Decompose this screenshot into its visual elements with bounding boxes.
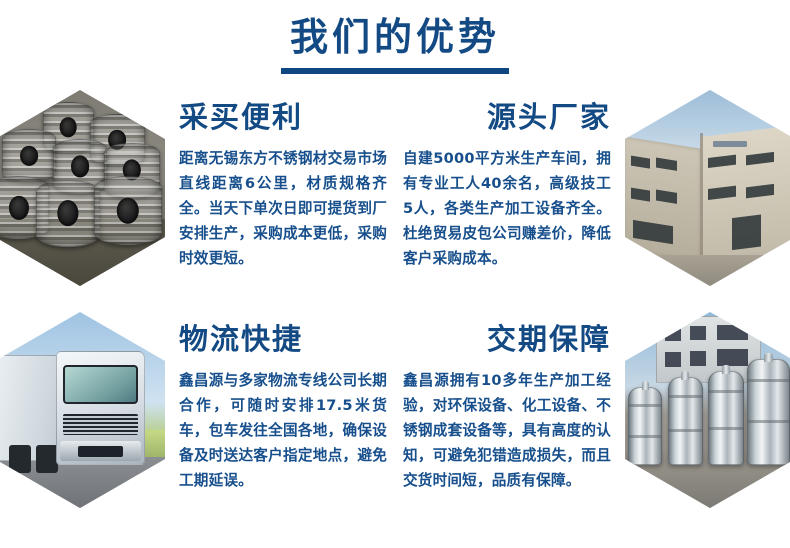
page-header: 我们的优势 [0,0,790,74]
advantage-body: 自建5000平方米生产车间，拥有专业工人40余名，高级技工5人，各类生产加工设备… [403,146,611,271]
advantage-heading: 交期保障 [403,322,611,356]
truck-grille [63,414,138,436]
advantage-text-procurement: 采买便利 距离无锡东方不锈钢材交易市场直线距离6公里，材质规格齐全。当天下单次日… [165,86,395,308]
factory-window [656,157,676,170]
advantages-row-2: 物流快捷 鑫昌源与多家物流专线公司长期合作，可随时安排17.5米货车，包车发往全… [0,308,790,518]
stainless-tank [628,387,662,465]
factory-window [631,187,650,201]
truck-windshield [63,365,138,404]
advantage-heading: 源头厂家 [403,100,611,134]
advantage-heading: 采买便利 [179,100,387,134]
advantage-text-delivery-guarantee: 交期保障 鑫昌源拥有10多年生产加工经验，对环保设备、化工设备、不锈钢成套设备等… [395,308,625,518]
building-window [717,325,748,341]
advantage-card-procurement: 采买便利 距离无锡东方不锈钢材交易市场直线距离6公里，材质规格齐全。当天下单次日… [0,86,395,308]
stainless-tank [747,359,790,465]
coil-shape [2,129,56,182]
factory-entrance [732,215,761,250]
coil-shape [94,176,162,245]
building-window [690,326,707,340]
factory-corner-edge [700,133,703,255]
factory-window [633,219,674,244]
advantage-body: 鑫昌源拥有10多年生产加工经验，对环保设备、化工设备、不锈钢成套设备等，具有高度… [403,368,611,493]
title-underline-rule [281,68,509,74]
advantage-text-source-factory: 源头厂家 自建5000平方米生产车间，拥有专业工人40余名，高级技工5人，各类生… [395,86,625,308]
stainless-tanks-photo [625,312,790,508]
stainless-tank [708,371,744,465]
stainless-tank [668,377,704,465]
advantages-row-1: 采买便利 距离无锡东方不锈钢材交易市场直线距离6公里，材质规格齐全。当天下单次日… [0,86,790,308]
factory-ground [625,255,790,286]
advantage-card-source-factory: 源头厂家 自建5000平方米生产车间，拥有专业工人40余名，高级技工5人，各类生… [395,86,790,308]
delivery-truck-photo [0,312,165,508]
truck-wheel [36,445,58,472]
truck-wheel [9,445,31,472]
factory-building-photo [625,90,790,286]
factory-signage [713,141,747,147]
advantage-heading: 物流快捷 [179,322,387,356]
building-window [665,352,682,368]
coil-shape [36,180,101,247]
steel-coils-photo [0,90,165,286]
factory-window [746,184,775,198]
advantage-body: 鑫昌源与多家物流专线公司长期合作，可随时安排17.5米货车，包车发往全国各地，确… [179,368,387,493]
factory-window [707,186,736,200]
building-window [717,349,748,366]
advantages-grid: 采买便利 距离无锡东方不锈钢材交易市场直线距离6公里，材质规格齐全。当天下单次日… [0,86,790,518]
advantage-card-logistics: 物流快捷 鑫昌源与多家物流专线公司长期合作，可随时安排17.5米货车，包车发往全… [0,308,395,518]
building-window [665,327,682,341]
factory-window [746,152,775,165]
advantage-card-delivery-guarantee: 交期保障 鑫昌源拥有10多年生产加工经验，对环保设备、化工设备、不锈钢成套设备等… [395,308,790,518]
tanks-background-building [656,316,761,383]
factory-left-facade [625,136,703,262]
advantage-text-logistics: 物流快捷 鑫昌源与多家物流专线公司长期合作，可随时安排17.5米货车，包车发往全… [165,308,395,518]
factory-window [631,156,650,169]
building-window [690,351,707,367]
factory-window [656,189,676,204]
factory-window [707,154,736,167]
page-title: 我们的优势 [0,14,790,60]
advantage-body: 距离无锡东方不锈钢材交易市场直线距离6公里，材质规格齐全。当天下单次日即可提货到… [179,146,387,271]
truck-bumper [60,441,142,461]
